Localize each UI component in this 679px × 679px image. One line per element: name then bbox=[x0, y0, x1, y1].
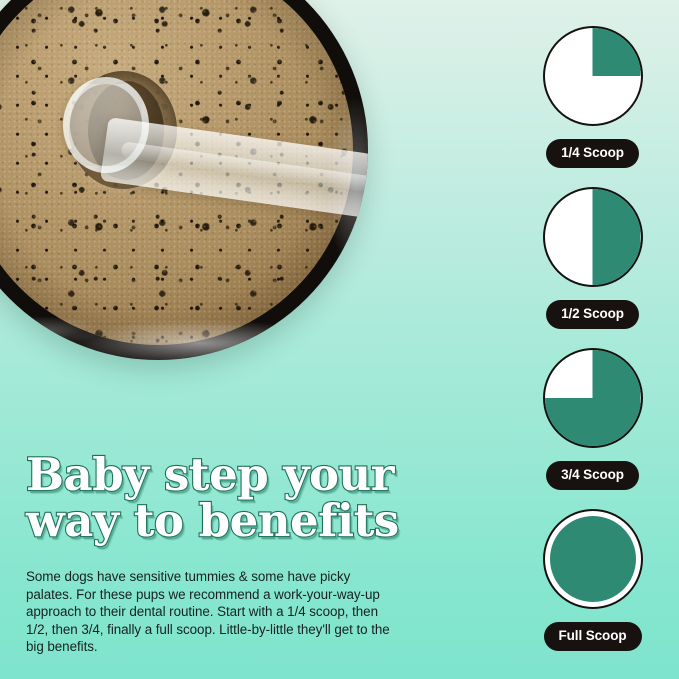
scoop-legend-item-full: Full Scoop bbox=[506, 509, 679, 651]
half-dial-icon bbox=[543, 187, 643, 287]
scoop-legend: 1/4 Scoop 1/2 Scoop 3/4 Scoop Full Scoop bbox=[506, 0, 679, 679]
scoop-label-three-quarter: 3/4 Scoop bbox=[546, 461, 639, 490]
product-photo bbox=[0, 0, 352, 330]
dial-fill bbox=[545, 189, 641, 285]
scoop-legend-item-three-quarter: 3/4 Scoop bbox=[506, 348, 679, 490]
scoop-label-quarter: 1/4 Scoop bbox=[546, 139, 639, 168]
body-paragraph: Some dogs have sensitive tummies & some … bbox=[26, 568, 394, 656]
full-dial-icon bbox=[543, 509, 643, 609]
scoop-legend-item-quarter: 1/4 Scoop bbox=[506, 26, 679, 168]
infographic-canvas: Baby step your way to benefits Some dogs… bbox=[0, 0, 679, 679]
powder-tub-image bbox=[0, 0, 368, 360]
dial-fill bbox=[550, 516, 636, 602]
scoop-label-full: Full Scoop bbox=[544, 622, 642, 651]
quarter-dial-icon bbox=[543, 26, 643, 126]
three-quarter-dial-icon bbox=[543, 348, 643, 448]
page-title: Baby step your way to benefits bbox=[26, 452, 446, 544]
scoop-legend-item-half: 1/2 Scoop bbox=[506, 187, 679, 329]
scoop-label-half: 1/2 Scoop bbox=[546, 300, 639, 329]
dial-fill bbox=[545, 350, 641, 446]
dial-fill bbox=[545, 28, 641, 124]
